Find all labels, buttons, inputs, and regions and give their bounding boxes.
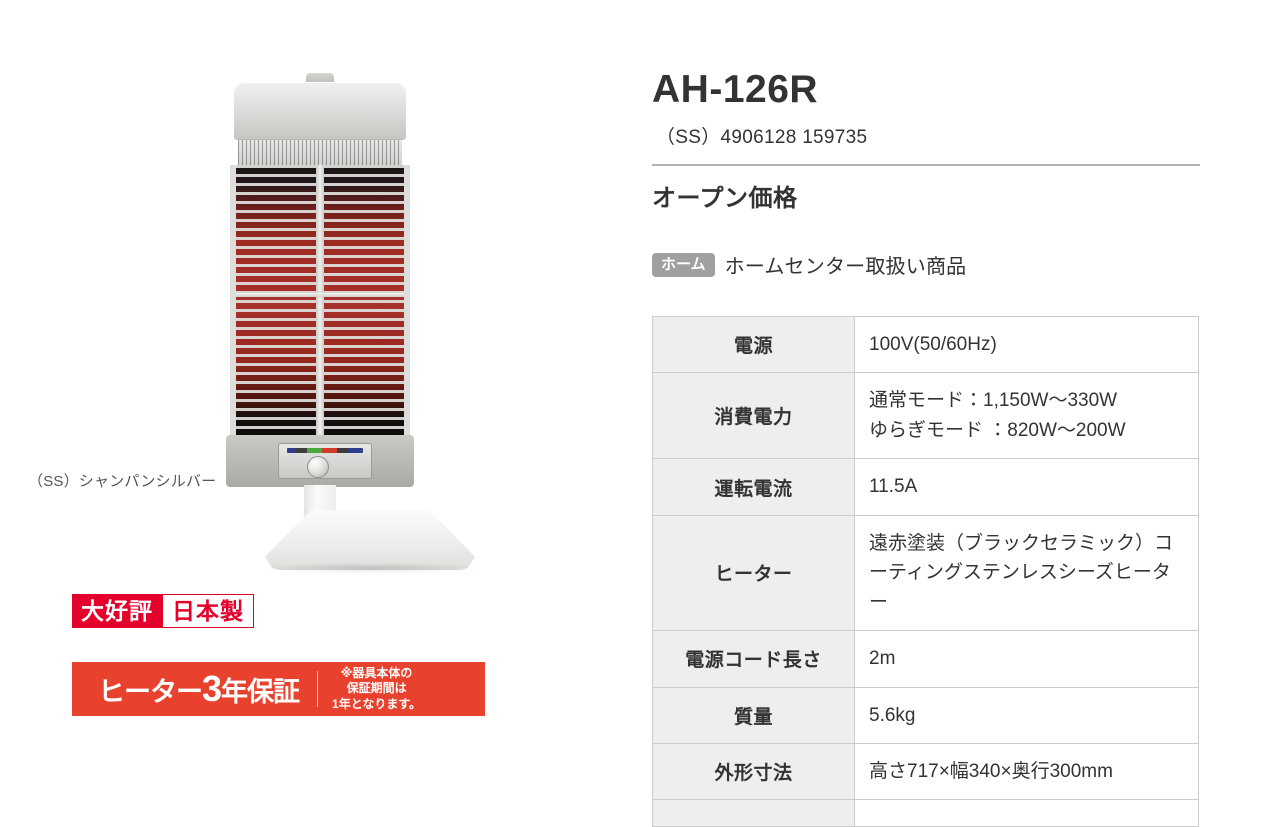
table-row: 外形寸法高さ717×幅340×奥行300mm (653, 743, 1199, 799)
table-row: 運転電流11.5A (653, 459, 1199, 515)
product-detail-page: （SS）シャンパンシルバー 大好評 日本製 ヒーター3年保証 ※器具本体の 保証… (0, 0, 1280, 770)
spec-label: 質量 (653, 687, 855, 743)
table-row: 電源コード長さ2m (653, 631, 1199, 687)
control-dial-icon (307, 456, 329, 478)
product-image (60, 55, 490, 525)
spec-label (653, 800, 855, 827)
warranty-years: 3 (202, 668, 221, 709)
table-row: 電源100V(50/60Hz) (653, 317, 1199, 373)
product-image-caption: （SS）シャンパンシルバー (28, 470, 216, 491)
warranty-headline: ヒーター3年保証 (72, 671, 299, 707)
heater-control-panel (226, 435, 414, 487)
spec-value (855, 800, 1199, 827)
spec-value: 11.5A (855, 459, 1199, 515)
spec-value: 5.6kg (855, 687, 1199, 743)
spec-label: 運転電流 (653, 459, 855, 515)
product-info-column: AH-126R （SS）4906128 159735 オープン価格 ホーム ホー… (652, 0, 1200, 770)
sales-channel-row: ホーム ホームセンター取扱い商品 (652, 250, 966, 279)
sales-channel-text: ホームセンター取扱い商品 (725, 250, 967, 279)
spec-label: ヒーター (653, 515, 855, 630)
warranty-banner: ヒーター3年保証 ※器具本体の 保証期間は 1年となります。 (72, 662, 485, 716)
specification-table-body: 電源100V(50/60Hz)消費電力通常モード：1,150W〜330W ゆらぎ… (653, 317, 1199, 827)
warranty-note: ※器具本体の 保証期間は 1年となります。 (318, 666, 421, 712)
product-badges: 大好評 日本製 (72, 594, 254, 628)
price-label: オープン価格 (652, 178, 798, 213)
spec-value: 2m (855, 631, 1199, 687)
warranty-suffix: 年保証 (221, 677, 299, 707)
spec-value: 高さ717×幅340×奥行300mm (855, 743, 1199, 799)
product-jan-code: （SS）4906128 159735 (656, 122, 867, 149)
heater-element-body (230, 165, 410, 435)
table-row: 消費電力通常モード：1,150W〜330W ゆらぎモード ：820W〜200W (653, 373, 1199, 459)
heater-base-shadow (260, 563, 480, 573)
badge-made-in-japan: 日本製 (162, 594, 254, 628)
spec-label: 消費電力 (653, 373, 855, 459)
warranty-prefix: ヒーター (98, 677, 202, 707)
control-plate (278, 443, 372, 479)
indicator-led-strip (287, 448, 363, 453)
specification-table: 電源100V(50/60Hz)消費電力通常モード：1,150W〜330W ゆらぎ… (652, 316, 1199, 827)
page-title: AH-126R (652, 70, 818, 109)
product-media-column: （SS）シャンパンシルバー 大好評 日本製 ヒーター3年保証 ※器具本体の 保証… (0, 0, 640, 770)
badge-popular: 大好評 (72, 594, 162, 628)
status-badge: ホーム (652, 253, 715, 277)
spec-label: 電源 (653, 317, 855, 373)
heater-top-vent (238, 139, 402, 167)
heater-cross-bar (236, 293, 404, 297)
heater-hood (234, 82, 406, 140)
table-row: 質量5.6kg (653, 687, 1199, 743)
heater-illustration (220, 55, 420, 525)
spec-value: 遠赤塗装（ブラックセラミック）コーティングステンレスシーズヒーター (855, 515, 1199, 630)
table-row (653, 800, 1199, 827)
spec-value: 100V(50/60Hz) (855, 317, 1199, 373)
table-row: ヒーター遠赤塗装（ブラックセラミック）コーティングステンレスシーズヒーター (653, 515, 1199, 630)
heater-base (265, 510, 475, 570)
spec-label: 電源コード長さ (653, 631, 855, 687)
heater-center-post (316, 165, 324, 435)
spec-label: 外形寸法 (653, 743, 855, 799)
spec-value: 通常モード：1,150W〜330W ゆらぎモード ：820W〜200W (855, 373, 1199, 459)
title-divider (652, 164, 1200, 166)
